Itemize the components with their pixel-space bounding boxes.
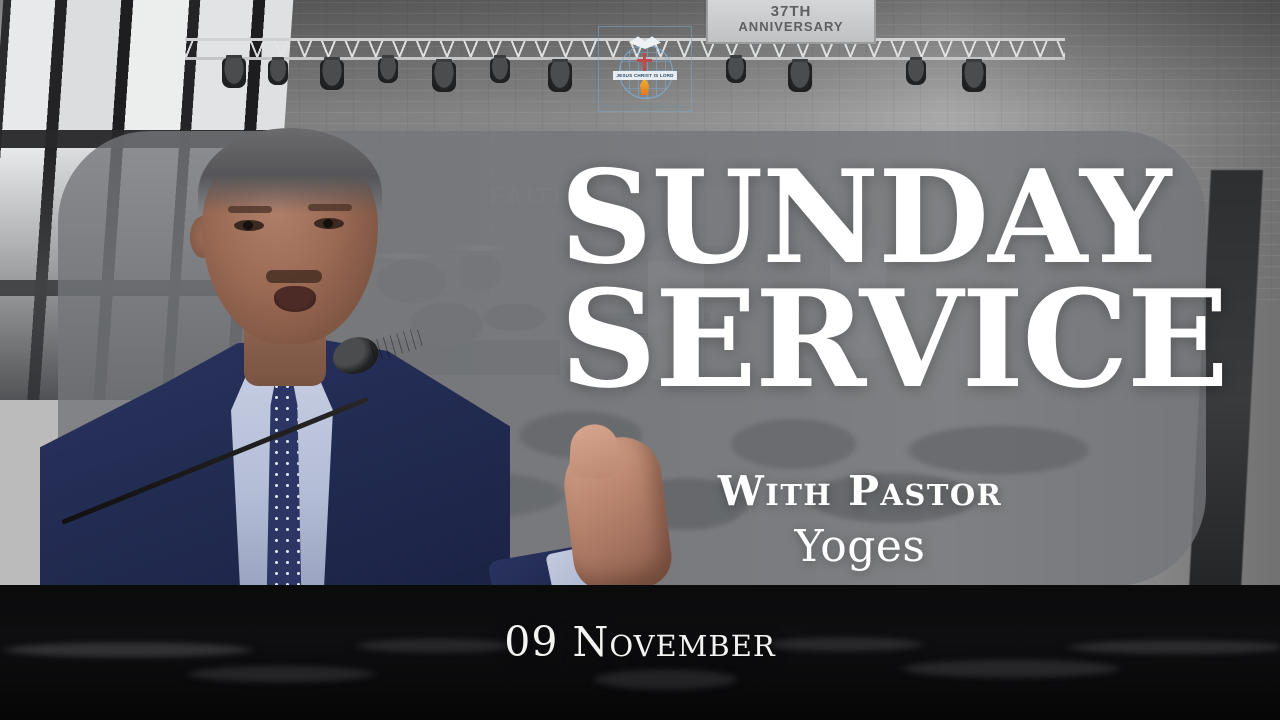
eyebrow (308, 204, 352, 211)
stage-light-icon (268, 60, 288, 85)
stage-light-icon (962, 62, 986, 92)
eye (234, 220, 264, 231)
anniversary-banner: 37TH ANNIVERSARY (706, 0, 876, 44)
title-block: SUNDAY SERVICE With Pastor Yoges (560, 160, 1160, 572)
headline-line-2: SERVICE (560, 278, 1160, 401)
stage-light-icon (378, 58, 398, 83)
event-date-text: 09 November (504, 618, 775, 666)
mustache (266, 270, 322, 283)
event-date: 09 November (0, 618, 1280, 666)
mouth (274, 286, 316, 312)
eye (314, 218, 344, 229)
pastor-portrait (22, 120, 542, 590)
microphone-grip (369, 327, 425, 362)
pastor-name: Yoges (560, 521, 1160, 572)
stage-light-icon (432, 62, 456, 92)
sunday-service-poster: 37TH ANNIVERSARY JESUS CHRIST IS LORD NE… (0, 0, 1280, 720)
stage-light-icon (788, 62, 812, 92)
logo-caption: NEW LIFE INTERNATIONAL CHURCH (599, 104, 691, 109)
with-pastor-label: With Pastor (560, 467, 1160, 515)
stage-light-icon (490, 58, 510, 83)
hair (198, 128, 382, 214)
stage-light-icon (222, 58, 246, 88)
church-logo: JESUS CHRIST IS LORD NEW LIFE INTERNATIO… (598, 26, 692, 112)
eyebrow (228, 206, 272, 213)
stage-light-icon (726, 58, 746, 83)
logo-banner-text: JESUS CHRIST IS LORD (613, 71, 677, 80)
stage-light-icon (320, 60, 344, 90)
stage-light-icon (906, 60, 926, 85)
anniversary-banner-line1: 37TH (771, 4, 812, 19)
stage-light-icon (548, 62, 572, 92)
anniversary-banner-line2: ANNIVERSARY (738, 19, 843, 36)
